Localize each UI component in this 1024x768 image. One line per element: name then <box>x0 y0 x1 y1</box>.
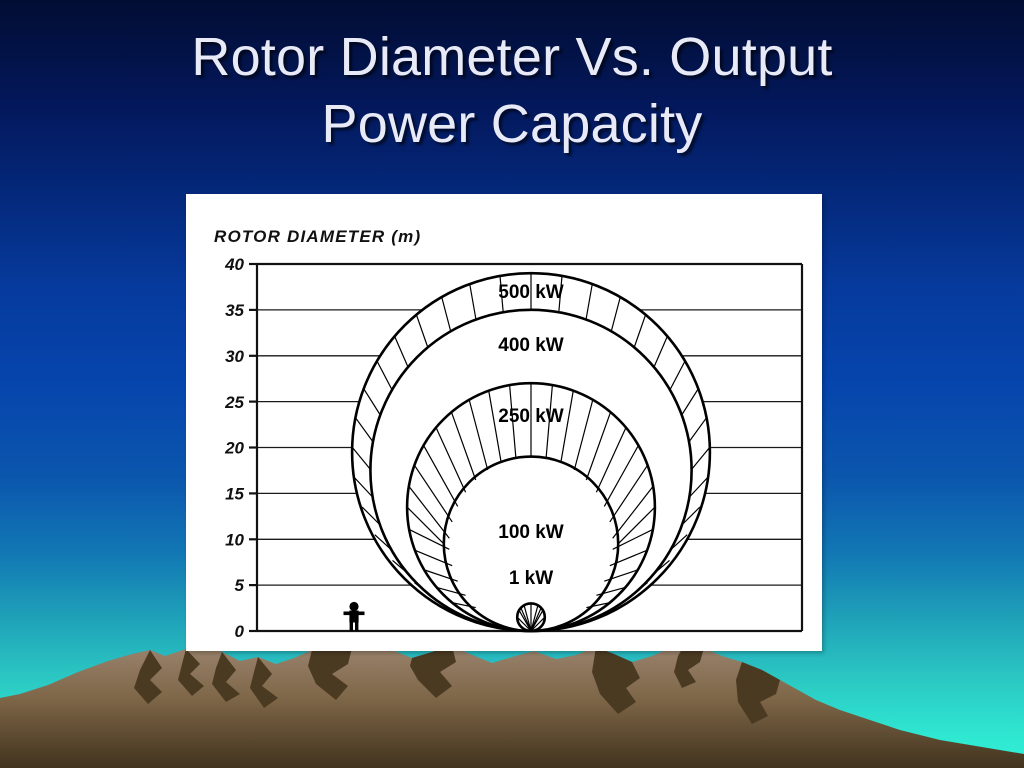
series-label-250kw: 250 kW <box>498 406 564 427</box>
slide-canvas: Rotor Diameter Vs. Output Power Capacity… <box>0 0 1024 768</box>
chart-image-panel: ROTOR DIAMETER (m) <box>186 194 822 651</box>
y-axis-ticks <box>249 264 257 631</box>
axis-title-rotor-diameter: ROTOR DIAMETER (m) <box>214 227 421 246</box>
rotor-circle-1kw <box>517 603 545 631</box>
y-tick-label-20: 20 <box>224 439 244 458</box>
y-tick-label-35: 35 <box>225 301 244 320</box>
y-tick-label-0: 0 <box>235 622 245 641</box>
series-label-1kw: 1 kW <box>509 568 553 589</box>
y-tick-label-10: 10 <box>225 531 244 550</box>
y-tick-label-30: 30 <box>225 347 244 366</box>
human-scale-silhouette <box>344 602 365 631</box>
y-tick-label-5: 5 <box>235 576 245 595</box>
y-tick-label-15: 15 <box>225 485 244 504</box>
series-label-400kw: 400 kW <box>498 335 564 356</box>
y-axis-tick-labels: 40 35 30 25 20 15 10 5 0 <box>224 255 244 641</box>
series-label-100kw: 100 kW <box>498 522 564 543</box>
page-title-line-1: Rotor Diameter Vs. Output <box>0 24 1024 91</box>
rotor-diameter-chart: ROTOR DIAMETER (m) <box>186 194 822 651</box>
page-title: Rotor Diameter Vs. Output Power Capacity <box>0 24 1024 158</box>
y-tick-label-25: 25 <box>224 393 244 412</box>
series-label-500kw: 500 kW <box>498 282 564 303</box>
y-tick-label-40: 40 <box>224 255 244 274</box>
page-title-line-2: Power Capacity <box>0 91 1024 158</box>
